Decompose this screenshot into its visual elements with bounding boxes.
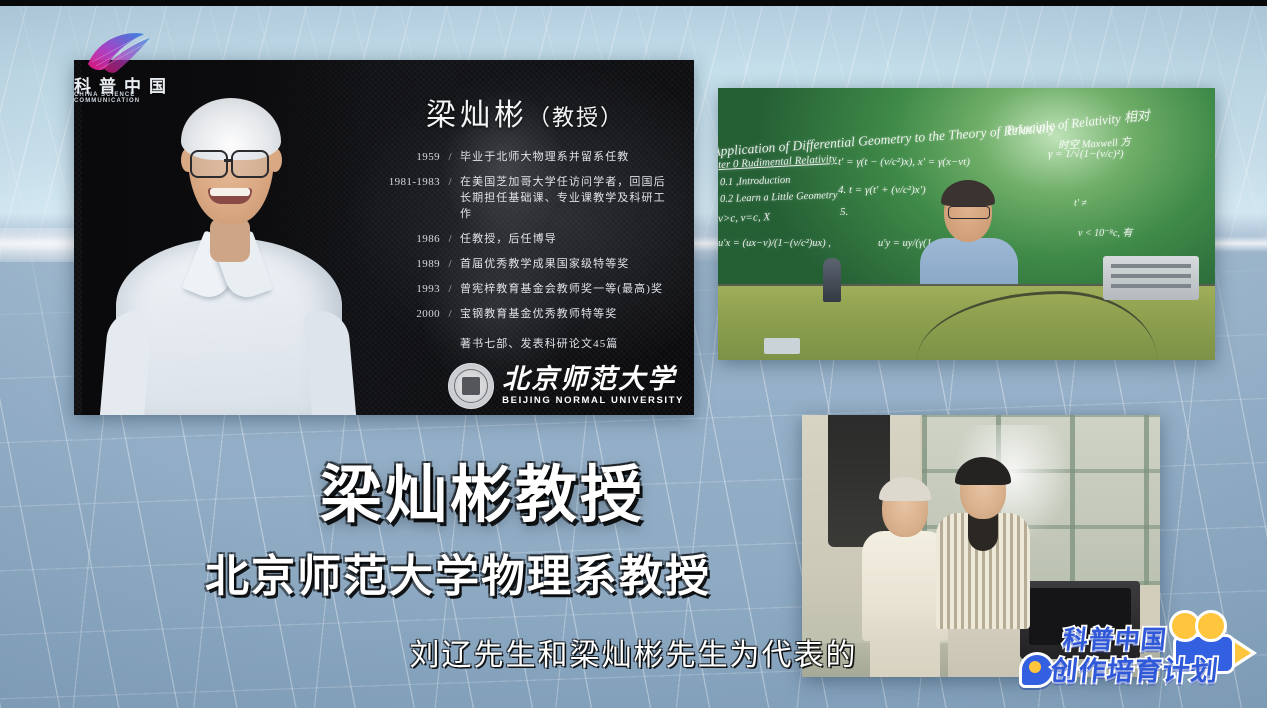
entry-separator: / xyxy=(440,175,460,191)
blackboard-lecture-photo: Application of Differential Geometry to … xyxy=(718,88,1215,360)
board-line-15: v < 10⁻⁸c, 有 xyxy=(1078,224,1132,239)
board-line-7: t' = γ(t − (v/c²)x), x' = γ(x−vt) xyxy=(838,156,970,168)
portrait-glasses-bridge xyxy=(224,159,233,162)
university-seal-icon xyxy=(448,363,494,409)
top-letterbox-bar xyxy=(0,0,1267,6)
entry-year: 1989 xyxy=(378,257,440,273)
equipment-box xyxy=(1103,256,1199,300)
entry-separator: / xyxy=(440,257,460,273)
entry-separator: / xyxy=(440,150,460,166)
board-line-8: 4. t = γ(t' + (v/c²)x') xyxy=(838,184,926,196)
board-line-4: 0.1 ,Introduction xyxy=(720,175,791,188)
entry-separator: / xyxy=(440,232,460,248)
biography-name-title: 梁灿彬（教授） xyxy=(374,90,676,134)
entry-text: 在美国芝加哥大学任访问学者，回国后 xyxy=(460,176,666,188)
entry-year: 1959 xyxy=(378,150,440,166)
biography-entry-list: 1959 / 毕业于北师大物理系并留系任教 1981-1983 / 在美国芝加哥… xyxy=(374,150,676,323)
entry-text: 毕业于北师大物理系并留系任教 xyxy=(460,150,676,166)
entry-year: 1993 xyxy=(378,282,440,298)
biography-entry: 2000 / 宝钢教育基金优秀教师特等奖 xyxy=(378,307,676,323)
biography-name: 梁灿彬 xyxy=(426,99,528,132)
desk-label-plate xyxy=(764,338,800,354)
entry-year: 1981-1983 xyxy=(378,175,440,191)
biography-entry: 1986 / 任教授，后任博导 xyxy=(378,232,676,248)
overlay-subtitle: 北京师范大学物理系教授 xyxy=(205,540,711,604)
entry-year: 2000 xyxy=(378,307,440,323)
entry-text: 曾宪梓教育基金会教师奖一等(最高)奖 xyxy=(460,282,676,298)
board-line-11: γ = 1/√(1−(v/c)²) xyxy=(1048,148,1124,160)
china-science-communication-logo: 科普中国 CHINA SCIENCE COMMUNICATION xyxy=(70,28,200,100)
lecturer-glasses xyxy=(948,206,990,219)
microphone xyxy=(823,258,841,302)
board-line-9: 5. xyxy=(840,206,848,218)
beijing-normal-university-lockup: 北京师范大学 BEIJING NORMAL UNIVERSITY xyxy=(448,363,684,409)
video-frame: 科普中国 CHINA SCIENCE COMMUNICATION xyxy=(0,0,1267,708)
biography-entry: 1959 / 毕业于北师大物理系并留系任教 xyxy=(378,150,676,166)
elder-hair xyxy=(879,477,931,501)
biography-footnote: 著书七部、发表科研论文45篇 xyxy=(460,335,676,351)
csc-logo-en-text: CHINA SCIENCE COMMUNICATION xyxy=(74,92,200,104)
board-line-5: 0.2 Learn a Little Geometry xyxy=(720,190,838,205)
entry-text: 首届优秀教学成果国家级特等奖 xyxy=(460,257,676,273)
entry-separator: / xyxy=(440,307,460,323)
professor-portrait-photo xyxy=(82,60,372,415)
board-line-14: t' ≠ xyxy=(1074,198,1087,209)
portrait-glasses-left xyxy=(190,150,228,178)
entry-separator: / xyxy=(440,282,460,298)
portrait-mouth xyxy=(208,188,252,204)
university-name-en: BEIJING NORMAL UNIVERSITY xyxy=(502,396,684,406)
portrait-teeth xyxy=(210,188,250,196)
biography-title-suffix: （教授） xyxy=(528,105,624,130)
university-name-block: 北京师范大学 BEIJING NORMAL UNIVERSITY xyxy=(502,366,684,406)
entry-text: 任教授，后任博导 xyxy=(460,232,676,248)
lecturer-hair xyxy=(941,180,995,206)
camera-reel-right xyxy=(1195,610,1227,642)
portrait-glasses-right xyxy=(231,150,269,178)
entry-year: 1986 xyxy=(378,232,440,248)
university-name-cn: 北京师范大学 xyxy=(502,366,684,393)
program-watermark-logo: 科普中国 创作培育计划 xyxy=(1003,618,1253,694)
board-line-12: u'x = (ux−v)/(1−(v/c²)ux) , xyxy=(718,238,831,249)
board-line-6: v>c, v=c, X xyxy=(718,211,770,225)
program-logo-line2: 创作培育计划 xyxy=(1049,649,1221,688)
biography-entry: 1993 / 曾宪梓教育基金会教师奖一等(最高)奖 xyxy=(378,282,676,298)
portrait-neck xyxy=(210,218,250,262)
entry-text: 宝钢教育基金优秀教师特等奖 xyxy=(460,307,676,323)
biography-card: 梁灿彬（教授） 1959 / 毕业于北师大物理系并留系任教 1981-1983 … xyxy=(74,60,694,415)
biography-content: 梁灿彬（教授） 1959 / 毕业于北师大物理系并留系任教 1981-1983 … xyxy=(370,60,694,415)
biography-entry: 1989 / 首届优秀教学成果国家级特等奖 xyxy=(378,257,676,273)
overlay-main-title: 梁灿彬教授 xyxy=(320,444,645,534)
entry-text-line2: 长期担任基础课、专业课教学及科研工作 xyxy=(460,191,676,223)
entry-text-block: 在美国芝加哥大学任访问学者，回国后 长期担任基础课、专业课教学及科研工作 xyxy=(460,175,676,223)
biography-entry: 1981-1983 / 在美国芝加哥大学任访问学者，回国后 长期担任基础课、专业… xyxy=(378,175,676,223)
science-bird-logo-icon xyxy=(70,28,200,76)
